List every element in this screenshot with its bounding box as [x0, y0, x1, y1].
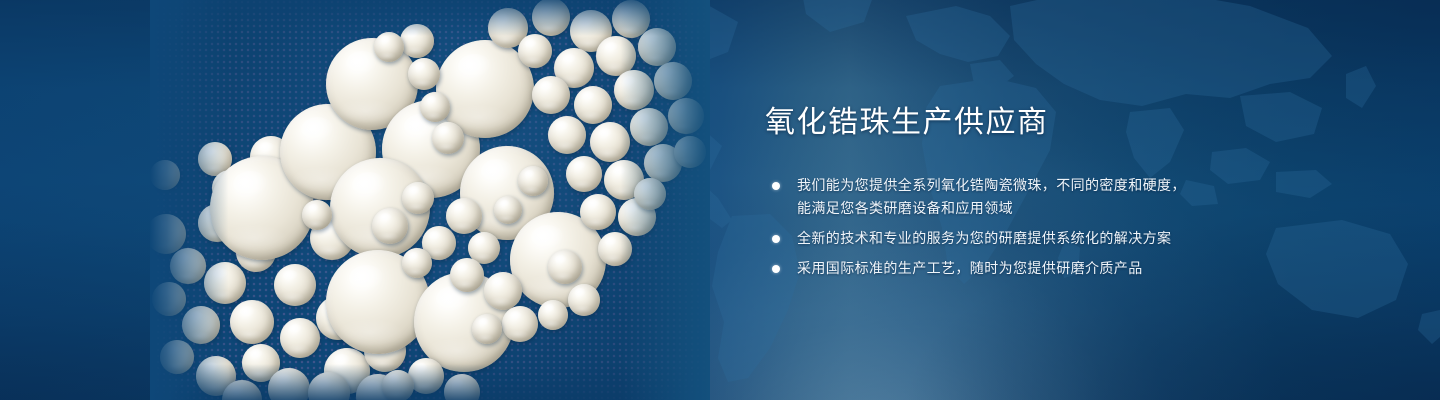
bead [182, 306, 220, 344]
bullet-text-line1: 全新的技术和专业的服务为您的研磨提供系统化的解决方案 [797, 230, 1171, 246]
bead [420, 92, 450, 122]
bead [614, 70, 654, 110]
feature-list: 我们能为您提供全系列氧化锆陶瓷微珠，不同的密度和硬度， 能满足您各类研磨设备和应… [769, 174, 1365, 280]
bead [518, 166, 548, 196]
bullet-dot-icon [772, 235, 780, 243]
bead [152, 282, 186, 316]
bead [580, 194, 616, 230]
bead [630, 108, 668, 146]
bead [548, 250, 582, 284]
bead [274, 264, 316, 306]
bead [408, 58, 440, 90]
bead [532, 76, 570, 114]
banner-headline: 氧化锆珠生产供应商 [765, 104, 1365, 142]
bead [400, 24, 434, 58]
bead [574, 86, 612, 124]
bullet-text-line1: 我们能为您提供全系列氧化锆陶瓷微珠，不同的密度和硬度， [797, 177, 1186, 193]
bead [374, 32, 404, 62]
hero-banner: 氧化锆珠生产供应商 我们能为您提供全系列氧化锆陶瓷微珠，不同的密度和硬度， 能满… [0, 0, 1440, 400]
bead [566, 156, 602, 192]
bead [518, 34, 552, 68]
bead [538, 300, 568, 330]
bead [668, 98, 704, 134]
bead [494, 196, 522, 224]
bead [638, 28, 676, 66]
bead [150, 160, 180, 190]
bead [568, 284, 600, 316]
bead [502, 306, 538, 342]
bead [446, 198, 482, 234]
bead [382, 370, 414, 400]
bead [450, 258, 484, 292]
bead [170, 248, 206, 284]
bead [160, 340, 194, 374]
bullet-dot-icon [772, 182, 780, 190]
bead [402, 182, 434, 214]
bead [402, 248, 432, 278]
banner-content: 氧化锆珠生产供应商 我们能为您提供全系列氧化锆陶瓷微珠，不同的密度和硬度， 能满… [765, 104, 1365, 280]
list-item: 我们能为您提供全系列氧化锆陶瓷微珠，不同的密度和硬度， 能满足您各类研磨设备和应… [769, 174, 1365, 220]
bullet-text-line1: 采用国际标准的生产工艺，随时为您提供研磨介质产品 [797, 260, 1143, 276]
bead [302, 200, 332, 230]
zirconia-beads-photo [150, 0, 710, 400]
bead [280, 318, 320, 358]
bead [432, 122, 464, 154]
bead [548, 116, 586, 154]
bead [654, 62, 692, 100]
bead [634, 178, 666, 210]
bead [472, 314, 502, 344]
bead [598, 232, 632, 266]
bead [590, 122, 630, 162]
bead [372, 208, 408, 244]
bead [204, 262, 246, 304]
bead [484, 272, 522, 310]
bullet-dot-icon [772, 265, 780, 273]
list-item: 全新的技术和专业的服务为您的研磨提供系统化的解决方案 [769, 227, 1365, 250]
list-item: 采用国际标准的生产工艺，随时为您提供研磨介质产品 [769, 257, 1365, 280]
bead [674, 136, 706, 168]
bead [230, 300, 274, 344]
bullet-text-line2: 能满足您各类研磨设备和应用领域 [797, 197, 1365, 220]
